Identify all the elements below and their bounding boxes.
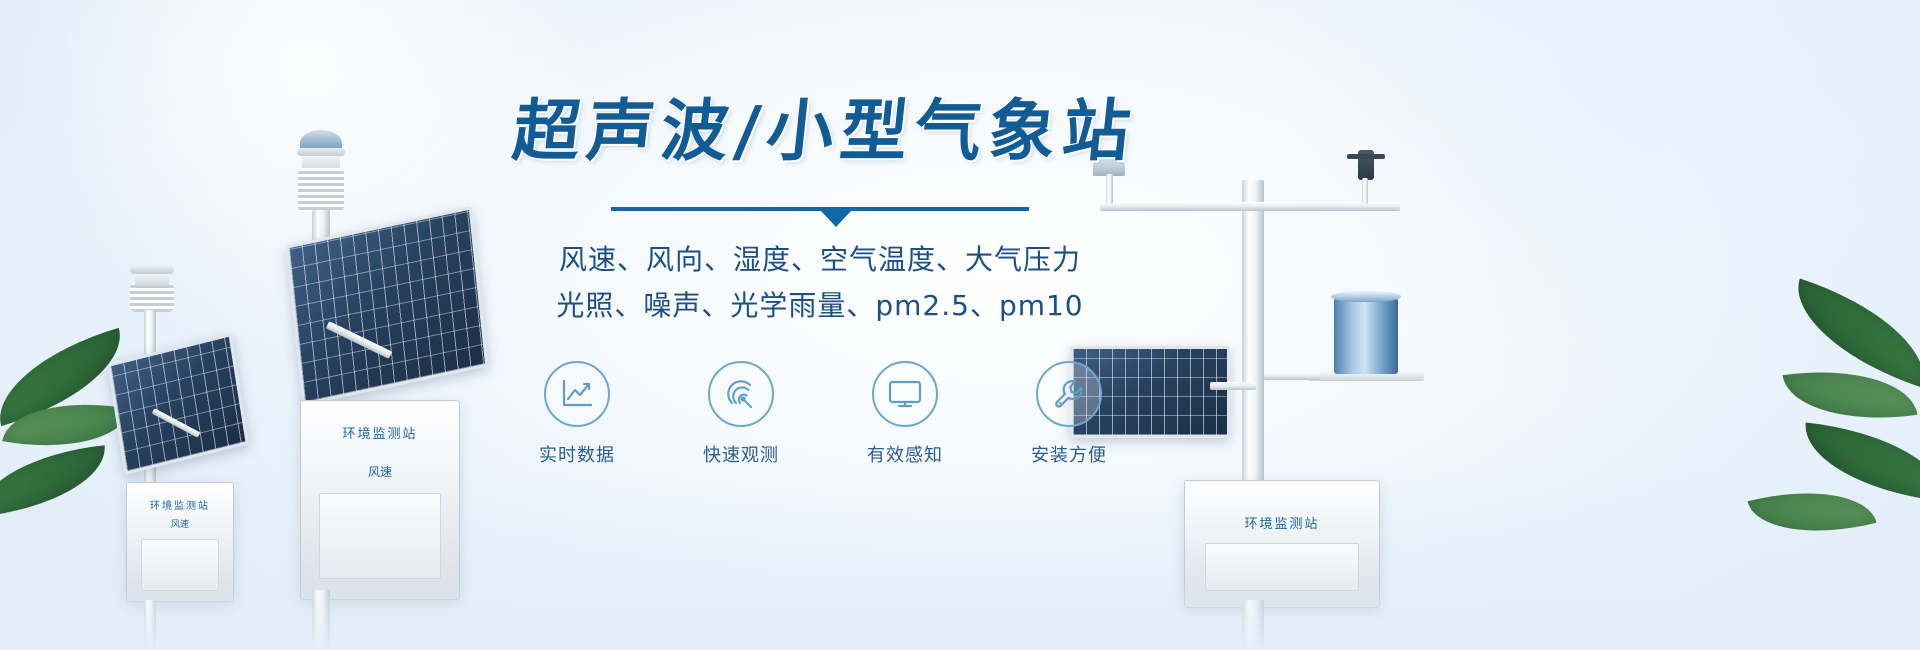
vane-stem [1362,178,1368,204]
radiation-shield-icon [298,168,344,212]
feature-label: 快速观测 [685,441,797,467]
rain-gauge-icon [1334,296,1398,374]
feature-label: 安装方便 [1013,441,1125,467]
gauge-mount-arm [1264,372,1320,380]
feature-icon-circle [544,361,610,427]
monitor-screen-icon [887,379,923,409]
mast-pole-lower [1242,600,1264,650]
feature-icon-circle [708,361,774,427]
feature-item-easy-installation[interactable]: 安装方便 [1013,361,1125,467]
wrench-tool-icon [1052,377,1086,411]
enclosure-door [319,493,441,579]
signal-radar-icon [724,377,758,411]
feature-label: 有效感知 [849,441,961,467]
divider-triangle-icon [821,211,851,227]
line-chart-icon [560,378,594,410]
feature-item-realtime-data[interactable]: 实时数据 [521,361,633,467]
feature-icon-circle [872,361,938,427]
page-title: 超声波/小型气象站 [426,92,1214,171]
enclosure-box: 环境监测站 [1184,480,1380,608]
feature-label: 实时数据 [521,441,633,467]
mast-pole-lower [144,600,156,650]
leaf-decoration [0,445,111,516]
enclosure-brand: 风速 [127,517,233,530]
subtitle-line-1: 风速、风向、湿度、空气温度、大气压力 [430,237,1210,283]
radiation-shield-icon [130,282,174,312]
feature-item-fast-observation[interactable]: 快速观测 [685,361,797,467]
title-divider [611,207,1029,223]
wind-vane-icon [1358,150,1374,180]
weather-station-left: 环境监测站 风速 [108,270,278,650]
enclosure-door [141,539,219,591]
enclosure-door [1205,543,1359,591]
enclosure-box: 环境监测站 风速 [126,482,234,602]
banner-content: 超声波/小型气象站 风速、风向、湿度、空气温度、大气压力 光照、噪声、光学雨量、… [430,92,1210,467]
enclosure-label: 环境监测站 [127,497,233,512]
mast-pole-lower [312,590,330,650]
leaf-decoration [1799,423,1920,502]
sensor-head-icon [135,272,169,286]
solar-panel [107,333,249,475]
feature-icon-circle [1036,361,1102,427]
feature-list: 实时数据 快速观测 [430,361,1210,467]
leaf-decoration [1747,472,1876,551]
enclosure-label: 环境监测站 [1185,513,1379,532]
leaf-decoration [1779,278,1920,387]
panel-mount-arm [1210,382,1256,390]
product-banner: 环境监测站 风速 环境监测站 风速 环境监测站 [0,0,1920,650]
feature-item-effective-sensing[interactable]: 有效感知 [849,361,961,467]
divider-rule [611,207,1029,211]
subtitle-line-2: 光照、噪声、光学雨量、pm2.5、pm10 [430,283,1210,329]
